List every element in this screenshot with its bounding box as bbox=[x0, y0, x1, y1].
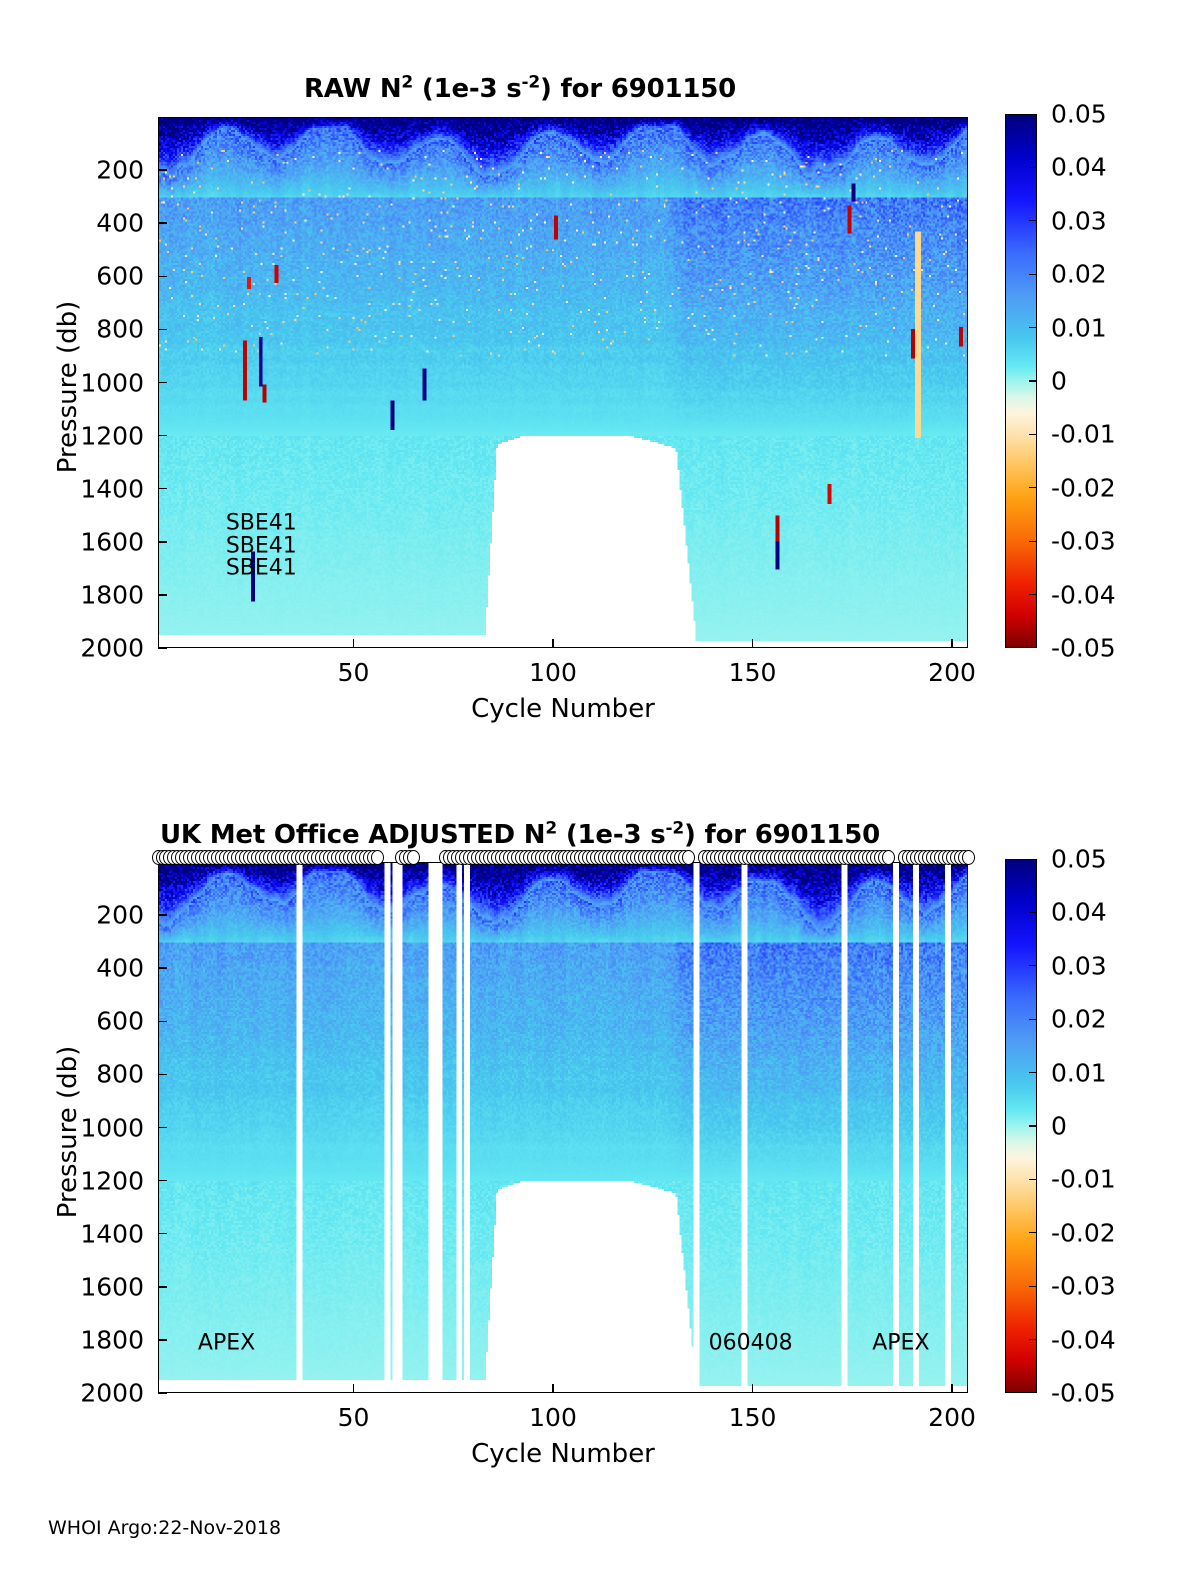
colorbar-tick-label: -0.01 bbox=[1051, 420, 1116, 449]
colorbar-tick-label: -0.02 bbox=[1051, 473, 1116, 502]
y-tick-mark bbox=[158, 382, 167, 384]
panel-adjusted: UK Met Office ADJUSTED N2 (1e-3 s-2) for… bbox=[0, 760, 1200, 1500]
x-tick-mark bbox=[752, 1384, 754, 1393]
y-tick-label: 1800 bbox=[34, 1325, 144, 1354]
colorbar-tick-label: 0.01 bbox=[1051, 1058, 1107, 1087]
y-tick-label: 1200 bbox=[34, 421, 144, 450]
y-tick-mark bbox=[158, 1127, 167, 1129]
x-tick-label: 50 bbox=[309, 658, 399, 687]
y-tick-mark bbox=[158, 276, 167, 278]
y-tick-mark bbox=[158, 594, 167, 596]
x-tick-label: 200 bbox=[907, 658, 997, 687]
raw-title-mid: (1e-3 s bbox=[413, 74, 521, 104]
y-tick-mark bbox=[158, 169, 167, 171]
x-tick-label: 100 bbox=[508, 658, 598, 687]
y-tick-label: 1800 bbox=[34, 580, 144, 609]
cycle-marker-icon bbox=[962, 850, 975, 865]
x-tick-mark bbox=[353, 639, 355, 648]
plot-annotation: SBE41 bbox=[226, 533, 297, 558]
raw-plot-title: RAW N2 (1e-3 s-2) for 6901150 bbox=[0, 74, 1040, 104]
colorbar-tick-label: 0.02 bbox=[1051, 260, 1107, 289]
cycle-marker-icon bbox=[882, 850, 895, 865]
y-tick-mark bbox=[158, 1021, 167, 1023]
plot-annotation: 060408 bbox=[709, 1330, 793, 1355]
y-tick-label: 800 bbox=[34, 315, 144, 344]
y-tick-mark bbox=[158, 1286, 167, 1288]
colorbar-tick-label: -0.05 bbox=[1051, 634, 1116, 663]
cycle-marker-icon bbox=[682, 850, 695, 865]
raw-title-sup1: 2 bbox=[401, 72, 413, 92]
colorbar-tick-label: 0.05 bbox=[1051, 845, 1107, 874]
x-tick-label: 150 bbox=[708, 1403, 798, 1432]
y-tick-mark bbox=[158, 1074, 167, 1076]
plot-annotation: SBE41 bbox=[226, 511, 297, 536]
x-tick-mark bbox=[353, 1384, 355, 1393]
colorbar-tick-mark bbox=[1029, 380, 1037, 381]
y-tick-mark bbox=[158, 1233, 167, 1235]
x-tick-label: 50 bbox=[309, 1403, 399, 1432]
adjusted-cycle-marker-row bbox=[158, 850, 968, 866]
y-tick-label: 200 bbox=[34, 156, 144, 185]
colorbar-tick-mark bbox=[1029, 167, 1037, 168]
cycle-marker-icon bbox=[371, 850, 384, 865]
x-tick-mark bbox=[951, 1384, 953, 1393]
raw-title-post: ) for 6901150 bbox=[540, 74, 736, 104]
adj-title-sup2: -2 bbox=[665, 818, 683, 838]
y-tick-label: 600 bbox=[34, 262, 144, 291]
y-tick-label: 800 bbox=[34, 1060, 144, 1089]
colorbar-tick-label: 0.02 bbox=[1051, 1005, 1107, 1034]
colorbar-tick-label: -0.01 bbox=[1051, 1165, 1116, 1194]
y-tick-label: 2000 bbox=[34, 1379, 144, 1408]
adjusted-x-axis-label: Cycle Number bbox=[158, 1439, 968, 1469]
colorbar-tick-mark bbox=[1029, 1125, 1037, 1126]
colorbar-tick-label: 0.03 bbox=[1051, 951, 1107, 980]
colorbar-tick-mark bbox=[1029, 594, 1037, 595]
raw-x-axis-label: Cycle Number bbox=[158, 694, 968, 724]
colorbar-tick-mark bbox=[1029, 434, 1037, 435]
y-tick-mark bbox=[158, 329, 167, 331]
y-tick-mark bbox=[158, 488, 167, 490]
colorbar-tick-label: 0 bbox=[1051, 367, 1067, 396]
y-tick-label: 1600 bbox=[34, 1272, 144, 1301]
adj-title-post: ) for 6901150 bbox=[684, 820, 880, 850]
y-tick-label: 1000 bbox=[34, 368, 144, 397]
colorbar-tick-label: 0.03 bbox=[1051, 206, 1107, 235]
y-tick-label: 1200 bbox=[34, 1166, 144, 1195]
plot-annotation: APEX bbox=[198, 1330, 255, 1355]
colorbar-tick-mark bbox=[1029, 1179, 1037, 1180]
colorbar-tick-mark bbox=[1029, 274, 1037, 275]
colorbar-tick-mark bbox=[1029, 1019, 1037, 1020]
adj-title-pre: UK Met Office ADJUSTED N bbox=[160, 820, 545, 850]
colorbar-tick-mark bbox=[1029, 912, 1037, 913]
colorbar-tick-label: -0.04 bbox=[1051, 1325, 1116, 1354]
y-tick-label: 1000 bbox=[34, 1113, 144, 1142]
x-tick-label: 200 bbox=[907, 1403, 997, 1432]
colorbar-tick-label: 0.05 bbox=[1051, 100, 1107, 129]
raw-title-pre: RAW N bbox=[304, 74, 401, 104]
adj-title-sup1: 2 bbox=[545, 818, 557, 838]
panel-raw: RAW N2 (1e-3 s-2) for 6901150 2004006008… bbox=[0, 0, 1200, 780]
colorbar-tick-mark bbox=[1029, 220, 1037, 221]
raw-title-sup2: -2 bbox=[522, 72, 540, 92]
y-tick-label: 1400 bbox=[34, 1219, 144, 1248]
colorbar-tick-mark bbox=[1029, 1232, 1037, 1233]
colorbar-tick-label: -0.05 bbox=[1051, 1379, 1116, 1408]
y-tick-mark bbox=[158, 1392, 167, 1394]
colorbar-tick-label: -0.04 bbox=[1051, 580, 1116, 609]
y-tick-mark bbox=[158, 1339, 167, 1341]
y-tick-label: 200 bbox=[34, 901, 144, 930]
colorbar-tick-label: 0.01 bbox=[1051, 313, 1107, 342]
colorbar-tick-label: -0.03 bbox=[1051, 527, 1116, 556]
y-tick-label: 1600 bbox=[34, 527, 144, 556]
x-tick-mark bbox=[951, 639, 953, 648]
y-tick-mark bbox=[158, 435, 167, 437]
colorbar-tick-mark bbox=[1029, 541, 1037, 542]
y-tick-label: 400 bbox=[34, 209, 144, 238]
raw-y-axis-label: Pressure (db) bbox=[53, 257, 83, 517]
x-tick-mark bbox=[752, 639, 754, 648]
adjusted-plot-title: UK Met Office ADJUSTED N2 (1e-3 s-2) for… bbox=[0, 820, 1040, 850]
y-tick-mark bbox=[158, 914, 167, 916]
y-tick-mark bbox=[158, 1180, 167, 1182]
y-tick-label: 2000 bbox=[34, 634, 144, 663]
x-tick-mark bbox=[552, 639, 554, 648]
colorbar-tick-mark bbox=[1029, 1286, 1037, 1287]
colorbar-tick-label: 0 bbox=[1051, 1112, 1067, 1141]
plot-annotation: SBE41 bbox=[226, 556, 297, 581]
adjusted-heatmap-canvas bbox=[159, 863, 967, 1392]
footer-credit: WHOI Argo:22-Nov-2018 bbox=[48, 1517, 281, 1539]
y-tick-mark bbox=[158, 541, 167, 543]
y-tick-label: 1400 bbox=[34, 474, 144, 503]
adj-title-mid: (1e-3 s bbox=[557, 820, 665, 850]
colorbar-tick-label: -0.02 bbox=[1051, 1218, 1116, 1247]
colorbar-tick-label: 0.04 bbox=[1051, 898, 1107, 927]
adjusted-heatmap-axes bbox=[158, 862, 968, 1393]
cycle-marker-icon bbox=[407, 850, 420, 865]
plot-annotation: APEX bbox=[872, 1330, 929, 1355]
colorbar-tick-mark bbox=[1029, 965, 1037, 966]
y-tick-label: 600 bbox=[34, 1007, 144, 1036]
colorbar-tick-label: 0.04 bbox=[1051, 153, 1107, 182]
colorbar-tick-mark bbox=[1029, 1339, 1037, 1340]
x-tick-label: 150 bbox=[708, 658, 798, 687]
y-tick-mark bbox=[158, 647, 167, 649]
colorbar-tick-mark bbox=[1029, 487, 1037, 488]
y-tick-mark bbox=[158, 967, 167, 969]
colorbar-tick-mark bbox=[1029, 327, 1037, 328]
colorbar-tick-mark bbox=[1029, 1072, 1037, 1073]
colorbar-tick-label: -0.03 bbox=[1051, 1272, 1116, 1301]
x-tick-label: 100 bbox=[508, 1403, 598, 1432]
adjusted-y-axis-label: Pressure (db) bbox=[53, 1002, 83, 1262]
y-tick-label: 400 bbox=[34, 954, 144, 983]
y-tick-mark bbox=[158, 222, 167, 224]
x-tick-mark bbox=[552, 1384, 554, 1393]
